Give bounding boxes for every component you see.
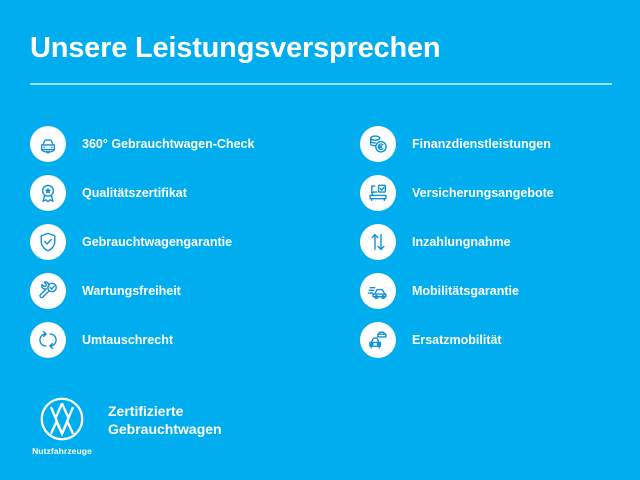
title-divider xyxy=(30,83,612,85)
benefit-item-gebrauchtwagengarantie: Gebrauchtwagengarantie xyxy=(30,224,290,260)
benefit-item-versicherungsangebote: Versicherungsangebote xyxy=(360,175,620,211)
quality-seal-icon xyxy=(30,175,66,211)
brand-lockup: Nutzfahrzeuge Zertifizierte Gebrauchtwag… xyxy=(30,396,222,456)
exchange-arrows-icon xyxy=(30,322,66,358)
benefit-label: Versicherungsangebote xyxy=(412,185,554,201)
car-document-check-icon xyxy=(360,175,396,211)
brand-claim: Zertifizierte Gebrauchtwagen xyxy=(108,402,222,438)
page-title: Unsere Leistungsversprechen xyxy=(30,30,612,66)
two-cars-icon xyxy=(360,322,396,358)
benefit-label: 360° Gebrauchtwagen-Check xyxy=(82,136,254,152)
benefit-item-finanzdienstleistungen: Finanzdienstleistungen xyxy=(360,126,620,162)
benefit-label: Finanzdienstleistungen xyxy=(412,136,551,152)
benefit-label: Gebrauchtwagengarantie xyxy=(82,234,232,250)
benefit-item-gebrauchtwagen-check: 360° Gebrauchtwagen-Check xyxy=(30,126,290,162)
vw-sub-brand-label: Nutzfahrzeuge xyxy=(32,446,92,456)
brand-claim-line1: Zertifizierte xyxy=(108,402,222,420)
benefit-item-ersatzmobilitaet: Ersatzmobilität xyxy=(360,322,620,358)
benefit-item-inzahlungnahme: Inzahlungnahme xyxy=(360,224,620,260)
up-down-arrows-icon xyxy=(360,224,396,260)
coins-euro-icon xyxy=(360,126,396,162)
car-inspection-icon xyxy=(30,126,66,162)
benefit-column-left: 360° Gebrauchtwagen-Check Qualitätszerti… xyxy=(30,126,290,371)
benefit-item-umtauschrecht: Umtauschrecht xyxy=(30,322,290,358)
benefit-label: Umtauschrecht xyxy=(82,332,173,348)
benefit-item-qualitaetszertifikat: Qualitätszertifikat xyxy=(30,175,290,211)
benefit-label: Qualitätszertifikat xyxy=(82,185,187,201)
vw-logo-icon xyxy=(39,396,85,442)
benefit-label: Mobilitätsgarantie xyxy=(412,283,519,299)
benefit-column-right: Finanzdienstleistungen Versicherungsange… xyxy=(360,126,620,371)
slide-header: Unsere Leistungsversprechen xyxy=(30,30,612,85)
shield-check-icon xyxy=(30,224,66,260)
benefit-item-mobilitaetsgarantie: Mobilitätsgarantie xyxy=(360,273,620,309)
wrench-check-icon xyxy=(30,273,66,309)
benefit-item-wartungsfreiheit: Wartungsfreiheit xyxy=(30,273,290,309)
brand-claim-line2: Gebrauchtwagen xyxy=(108,420,222,438)
benefit-label: Ersatzmobilität xyxy=(412,332,502,348)
benefit-label: Inzahlungnahme xyxy=(412,234,511,250)
promise-slide: Unsere Leistungsversprechen 360° Gebrauc… xyxy=(0,0,640,480)
car-motion-icon xyxy=(360,273,396,309)
vw-logo-block: Nutzfahrzeuge xyxy=(30,396,94,456)
benefit-label: Wartungsfreiheit xyxy=(82,283,181,299)
